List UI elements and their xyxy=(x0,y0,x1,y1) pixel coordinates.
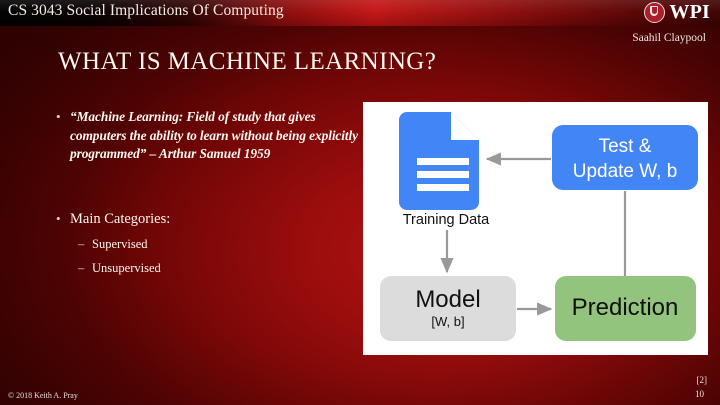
training-data-label: Training Data xyxy=(403,212,490,228)
bullet-item-quote: • “Machine Learning: Field of study that… xyxy=(56,108,361,164)
bullet-quote-text: “Machine Learning: Field of study that g… xyxy=(70,108,361,164)
sub-bullet-marker: – xyxy=(78,236,92,253)
author-name: Saahil Claypool xyxy=(632,32,706,44)
test-update-box: Test & Update W, b xyxy=(552,125,698,190)
model-title: Model xyxy=(415,286,480,313)
wpi-logo: WPI xyxy=(644,1,710,23)
bullet-categories-text: Main Categories: xyxy=(70,210,170,229)
page-title: WHAT IS MACHINE LEARNING? xyxy=(58,48,436,76)
bullet-item-categories: • Main Categories: xyxy=(56,210,361,229)
copyright-text: © 2018 Keith A. Pray xyxy=(8,391,78,400)
page-number: 10 xyxy=(695,389,704,399)
document-icon xyxy=(399,112,479,210)
test-update-line2: Update W, b xyxy=(573,161,678,182)
sub-bullet-label: Supervised xyxy=(92,236,148,253)
test-update-line1: Test & xyxy=(599,136,652,157)
sub-bullet-marker: – xyxy=(78,260,92,277)
bullet-marker: • xyxy=(56,210,70,228)
prediction-label: Prediction xyxy=(572,294,679,321)
prediction-box: Prediction xyxy=(555,276,696,341)
wpi-logo-text: WPI xyxy=(669,1,710,23)
bullet-marker: • xyxy=(56,108,70,126)
model-subtitle: [W, b] xyxy=(431,314,464,329)
sub-bullet-unsupervised: – Unsupervised xyxy=(78,260,361,277)
ml-workflow-diagram: Training Data Test & Update W, b Model [… xyxy=(363,102,708,355)
slide: CS 3043 Social Implications Of Computing… xyxy=(0,0,720,405)
bullet-list: • “Machine Learning: Field of study that… xyxy=(56,108,361,277)
course-title: CS 3043 Social Implications Of Computing xyxy=(8,2,284,20)
citation-reference: [2] xyxy=(697,375,708,385)
sub-bullet-label: Unsupervised xyxy=(92,260,161,277)
wpi-seal-icon xyxy=(644,2,665,23)
sub-bullet-supervised: – Supervised xyxy=(78,236,361,253)
model-box: Model [W, b] xyxy=(380,276,516,341)
